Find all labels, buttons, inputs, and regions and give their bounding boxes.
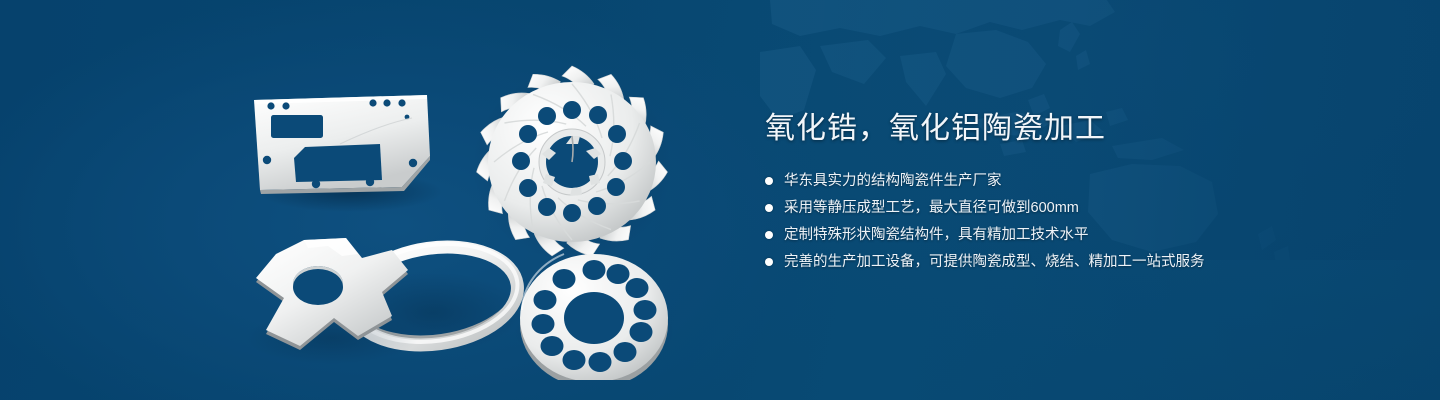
list-item: 定制特殊形状陶瓷结构件，具有精加工技术水平 <box>765 224 1385 246</box>
promo-banner: 氧化锆，氧化铝陶瓷加工 华东具实力的结构陶瓷件生产厂家 采用等静压成型工艺，最大… <box>0 0 1440 400</box>
ceramic-perforated-disc-part <box>514 254 674 380</box>
feature-text: 采用等静压成型工艺，最大直径可做到600mm <box>784 197 1079 219</box>
feature-text: 华东具实力的结构陶瓷件生产厂家 <box>784 170 1002 192</box>
ceramic-plate-part <box>254 95 442 212</box>
banner-text-block: 氧化锆，氧化铝陶瓷加工 华东具实力的结构陶瓷件生产厂家 采用等静压成型工艺，最大… <box>765 110 1385 289</box>
list-item: 华东具实力的结构陶瓷件生产厂家 <box>765 170 1385 192</box>
bullet-dot-icon <box>765 177 773 185</box>
list-item: 采用等静压成型工艺，最大直径可做到600mm <box>765 197 1385 219</box>
feature-text: 完善的生产加工设备，可提供陶瓷成型、烧结、精加工一站式服务 <box>784 251 1205 273</box>
ceramic-products-artwork <box>230 40 690 380</box>
feature-text: 定制特殊形状陶瓷结构件，具有精加工技术水平 <box>784 224 1089 246</box>
banner-feature-list: 华东具实力的结构陶瓷件生产厂家 采用等静压成型工艺，最大直径可做到600mm 定… <box>765 170 1385 273</box>
bullet-dot-icon <box>765 258 773 266</box>
banner-title: 氧化锆，氧化铝陶瓷加工 <box>765 110 1385 148</box>
bullet-dot-icon <box>765 231 773 239</box>
bullet-dot-icon <box>765 204 773 212</box>
ceramic-impeller-part <box>472 65 672 262</box>
list-item: 完善的生产加工设备，可提供陶瓷成型、烧结、精加工一站式服务 <box>765 251 1385 273</box>
